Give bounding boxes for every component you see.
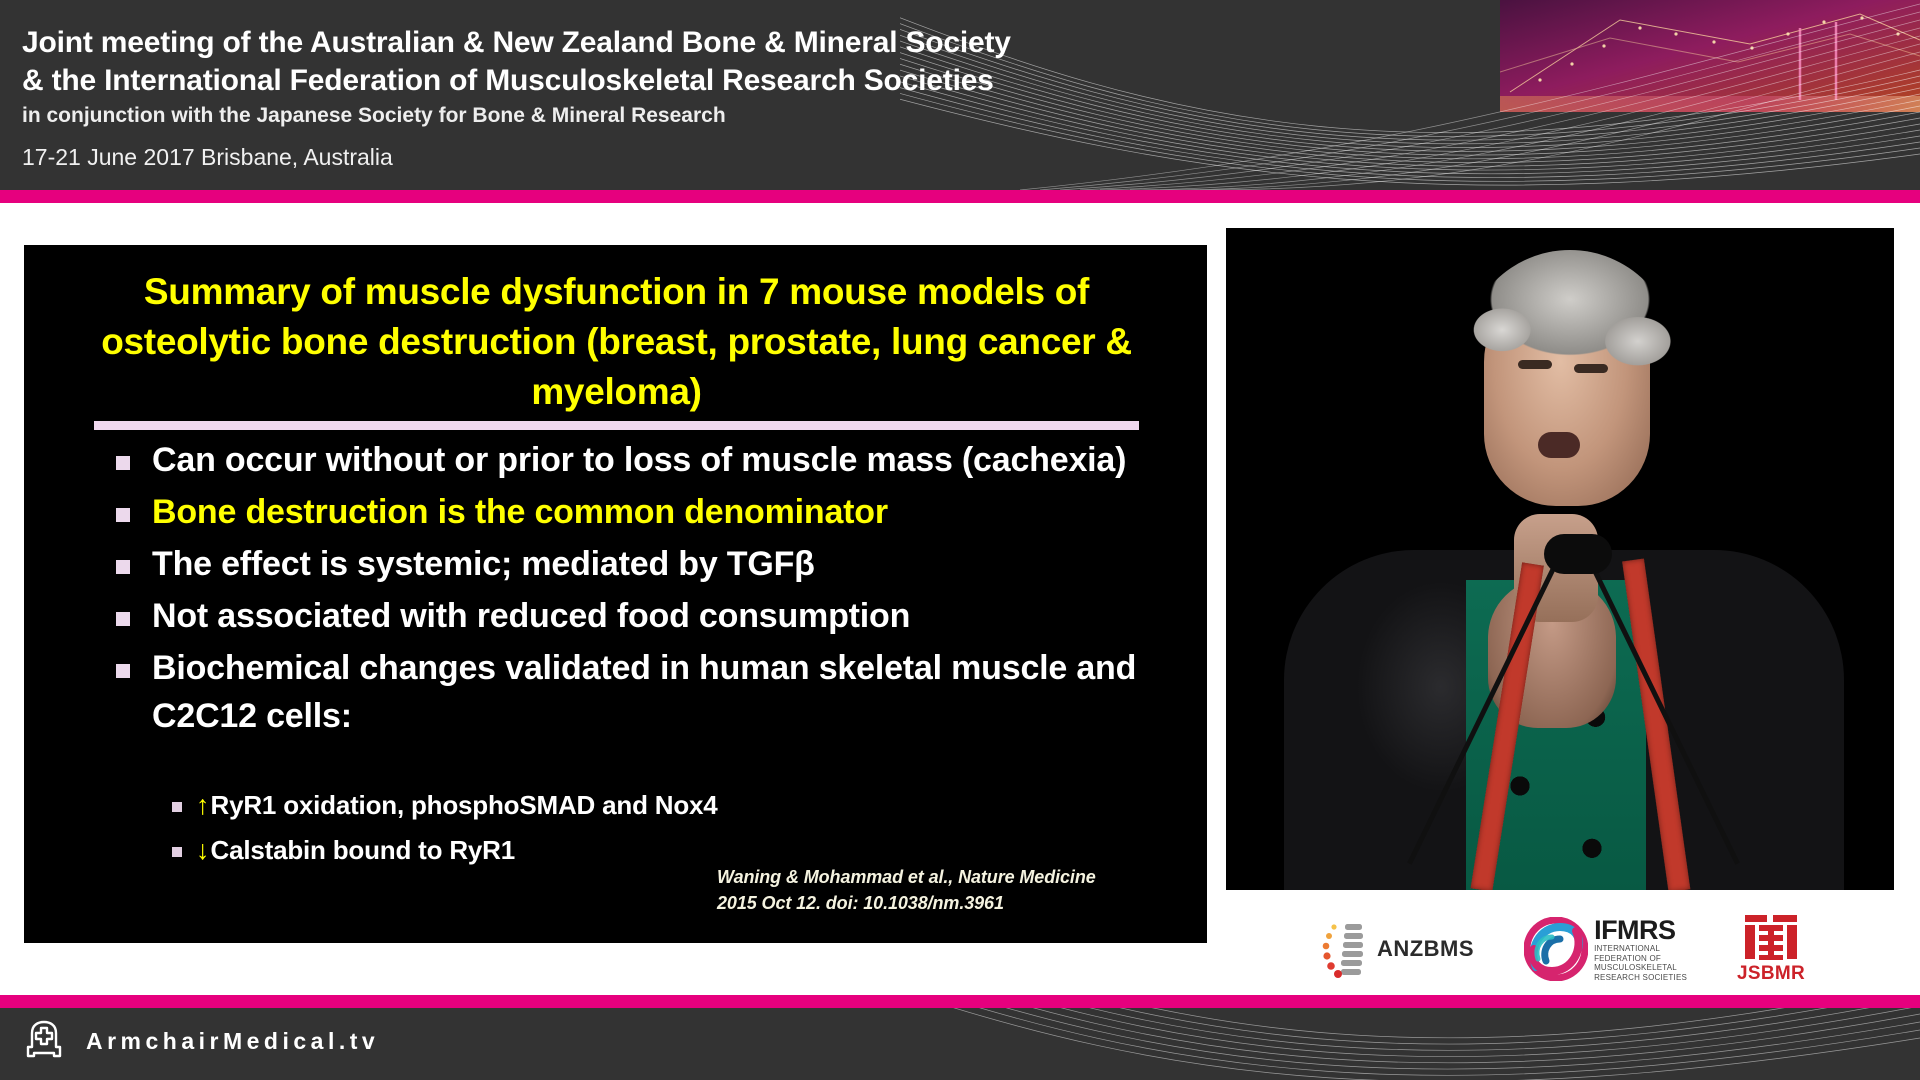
brand-label: ArmchairMedical.tv bbox=[86, 1028, 379, 1055]
list-item: ↑ RyR1 oxidation, phosphoSMAD and Nox4 bbox=[172, 787, 932, 823]
bullet-label: Not associated with reduced food consump… bbox=[152, 592, 910, 640]
armchair-medical-brand[interactable]: ArmchairMedical.tv bbox=[24, 1020, 379, 1062]
slide-title: Summary of muscle dysfunction in 7 mouse… bbox=[84, 267, 1149, 417]
speaker-video-panel[interactable] bbox=[1226, 228, 1894, 890]
bullet-square-icon bbox=[116, 612, 130, 626]
society-logos-row: ANZBMS IFMRS INTERNATIONAL FEDERATION OF… bbox=[1226, 903, 1894, 995]
header-swoosh-decoration bbox=[900, 0, 1920, 190]
sub-bullet-label: RyR1 oxidation, phosphoSMAD and Nox4 bbox=[211, 787, 718, 823]
header-dates-location: 17-21 June 2017 Brisbane, Australia bbox=[22, 142, 1011, 172]
speaker-eye-left bbox=[1518, 360, 1552, 369]
ifmrs-text-block: IFMRS INTERNATIONAL FEDERATION OF MUSCUL… bbox=[1594, 916, 1687, 982]
bullet-label: Bone destruction is the common denominat… bbox=[152, 488, 888, 536]
ifmrs-logo: IFMRS INTERNATIONAL FEDERATION OF MUSCUL… bbox=[1524, 916, 1687, 982]
armchair-cross-logo-icon bbox=[24, 1020, 64, 1062]
arrow-down-icon: ↓ bbox=[196, 832, 210, 868]
bullet-label: The effect is systemic; mediated by TGFβ bbox=[152, 540, 815, 588]
list-item: The effect is systemic; mediated by TGFβ bbox=[116, 540, 1176, 588]
speaker-mouth bbox=[1538, 432, 1580, 458]
ifmrs-label: IFMRS bbox=[1594, 916, 1687, 944]
anzbms-label: ANZBMS bbox=[1377, 936, 1474, 962]
header-line-2: & the International Federation of Muscul… bbox=[22, 62, 1011, 100]
list-item: Not associated with reduced food consump… bbox=[116, 592, 1176, 640]
jsbmr-label: JSBMR bbox=[1737, 963, 1805, 985]
ifmrs-subtitle-4: RESEARCH SOCIETIES bbox=[1594, 973, 1687, 983]
jsbmr-logo: JSBMR bbox=[1737, 913, 1805, 985]
arrow-up-icon: ↑ bbox=[196, 787, 210, 823]
ifmrs-subtitle-2: FEDERATION OF bbox=[1594, 954, 1687, 964]
bullet-label: Can occur without or prior to loss of mu… bbox=[152, 436, 1126, 484]
bullet-square-icon bbox=[116, 456, 130, 470]
slide-bullet-list: Can occur without or prior to loss of mu… bbox=[116, 436, 1176, 744]
presentation-slide[interactable]: Summary of muscle dysfunction in 7 mouse… bbox=[24, 245, 1207, 943]
jsbmr-mark-icon bbox=[1743, 913, 1799, 961]
header-line-1: Joint meeting of the Australian & New Ze… bbox=[22, 24, 1011, 62]
list-item: Bone destruction is the common denominat… bbox=[116, 488, 1176, 536]
ifmrs-subtitle-3: MUSCULOSKELETAL bbox=[1594, 963, 1687, 973]
header-line-3: in conjunction with the Japanese Society… bbox=[22, 100, 1011, 131]
slide-title-divider bbox=[94, 421, 1139, 430]
page-header: Joint meeting of the Australian & New Ze… bbox=[0, 0, 1920, 190]
sub-bullet-square-icon bbox=[172, 847, 182, 857]
speaker-eye-right bbox=[1574, 364, 1608, 373]
list-item: ↓ Calstabin bound to RyR1 bbox=[172, 832, 932, 868]
sub-bullet-label: Calstabin bound to RyR1 bbox=[211, 832, 516, 868]
ifmrs-swirl-icon bbox=[1524, 917, 1588, 981]
bullet-label: Biochemical changes validated in human s… bbox=[152, 644, 1176, 740]
anzbms-logo: ANZBMS bbox=[1315, 918, 1474, 980]
list-item: Biochemical changes validated in human s… bbox=[116, 644, 1176, 740]
slide-citation: Waning & Mohammad et al., Nature Medicin… bbox=[717, 864, 1187, 916]
footer-accent-rule bbox=[0, 995, 1920, 1008]
ifmrs-subtitle-1: INTERNATIONAL bbox=[1594, 944, 1687, 954]
list-item: Can occur without or prior to loss of mu… bbox=[116, 436, 1176, 484]
bullet-square-icon bbox=[116, 508, 130, 522]
sub-bullet-square-icon bbox=[172, 802, 182, 812]
page-footer: ArmchairMedical.tv bbox=[0, 1008, 1920, 1080]
header-text-block: Joint meeting of the Australian & New Ze… bbox=[22, 24, 1011, 172]
header-accent-rule bbox=[0, 190, 1920, 203]
bullet-square-icon bbox=[116, 664, 130, 678]
speaker-hair bbox=[1464, 250, 1676, 440]
bullet-square-icon bbox=[116, 560, 130, 574]
content-stage: Summary of muscle dysfunction in 7 mouse… bbox=[0, 203, 1920, 995]
citation-line-1: Waning & Mohammad et al., Nature Medicin… bbox=[717, 864, 1187, 890]
microphone-head bbox=[1544, 534, 1612, 574]
footer-swoosh-decoration bbox=[900, 1008, 1920, 1080]
citation-line-2: 2015 Oct 12. doi: 10.1038/nm.3961 bbox=[717, 890, 1187, 916]
spine-icon bbox=[1315, 918, 1373, 980]
